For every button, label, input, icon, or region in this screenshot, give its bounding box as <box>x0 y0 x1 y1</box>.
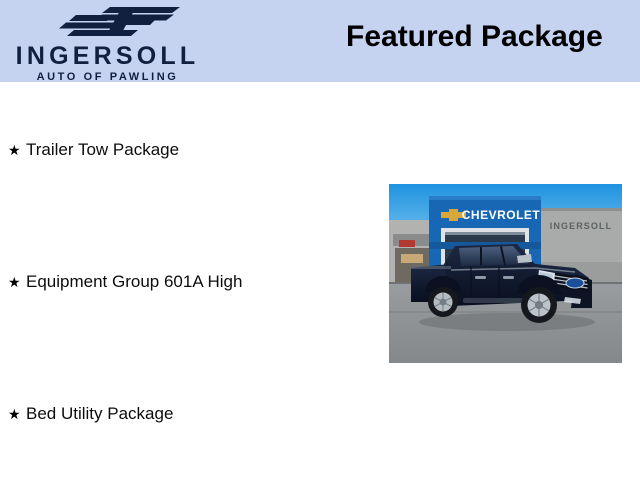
page-title: Featured Package <box>346 20 603 54</box>
list-item: ★ Equipment Group 601A High <box>8 272 242 292</box>
star-bullet-icon: ★ <box>8 404 26 424</box>
star-bullet-icon: ★ <box>8 140 26 160</box>
brand-name: INGERSOLL <box>0 44 215 69</box>
svg-text:CHEVROLET: CHEVROLET <box>462 208 541 222</box>
page-header: INGERSOLL AUTO OF PAWLING Featured Packa… <box>0 0 640 82</box>
vehicle-photo: INGERSOLL CHEVROLET <box>389 184 622 363</box>
list-item: ★ Trailer Tow Package <box>8 140 179 160</box>
feature-label: Trailer Tow Package <box>26 140 179 160</box>
star-bullet-icon: ★ <box>8 272 26 292</box>
ingersoll-winged-f-icon <box>52 5 182 39</box>
feature-list: ★ Trailer Tow Package ★ Equipment Group … <box>0 82 380 480</box>
list-item: ★ Bed Utility Package <box>8 404 173 424</box>
svg-text:INGERSOLL: INGERSOLL <box>550 221 612 231</box>
brand-logo-block: INGERSOLL AUTO OF PAWLING <box>0 4 215 82</box>
feature-label: Bed Utility Package <box>26 404 173 424</box>
feature-label: Equipment Group 601A High <box>26 272 242 292</box>
